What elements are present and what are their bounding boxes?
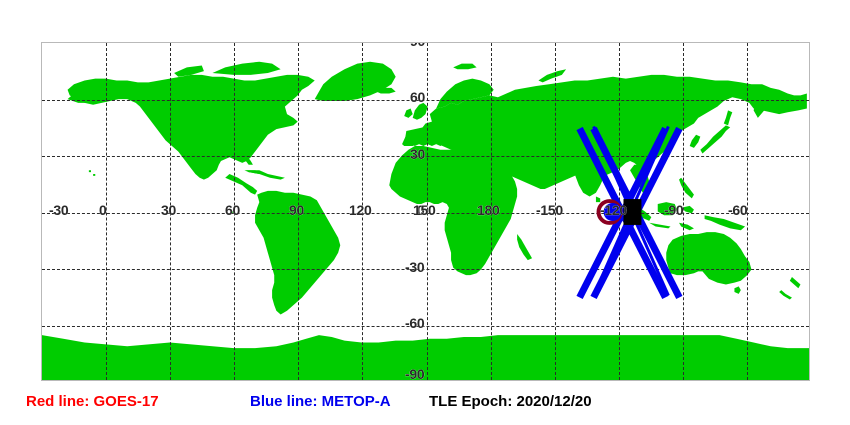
ytick-label--60: -60 (405, 315, 424, 331)
legend-tle-epoch: TLE Epoch: 2020/12/20 (429, 392, 592, 412)
xtick-label-90: 90 (289, 202, 304, 218)
chart-canvas: 90 60 30 0 -30 -60 -90 -30 0 30 60 90 12… (0, 0, 850, 425)
xtick-label-120: 120 (349, 202, 371, 218)
chart-legend: Red line: GOES-17 Blue line: METOP-A TLE… (0, 392, 850, 420)
xtick-label--150: -150 (536, 202, 563, 218)
xtick-label-60: 60 (225, 202, 240, 218)
xtick-label-180: 180 (477, 202, 499, 218)
xtick-label-0: 0 (99, 202, 107, 218)
legend-goes17: Red line: GOES-17 (26, 392, 159, 412)
xtick-label--60: -60 (728, 202, 747, 218)
ytick-label--90: -90 (405, 366, 424, 381)
xtick-label--90: -90 (664, 202, 683, 218)
world-map-plot: 90 60 30 0 -30 -60 -90 -30 0 30 60 90 12… (41, 42, 810, 381)
ytick-label-90: 90 (410, 42, 425, 49)
ytick-label-60: 60 (410, 89, 425, 105)
ytick-label-30: 30 (410, 146, 425, 162)
xtick-label-150: 150 (413, 202, 435, 218)
legend-metop-a: Blue line: METOP-A (250, 392, 391, 412)
xtick-label--30: -30 (49, 202, 68, 218)
xtick-label--120: -120 (600, 202, 627, 218)
xtick-label-30: 30 (161, 202, 176, 218)
ytick-label--30: -30 (405, 259, 424, 275)
